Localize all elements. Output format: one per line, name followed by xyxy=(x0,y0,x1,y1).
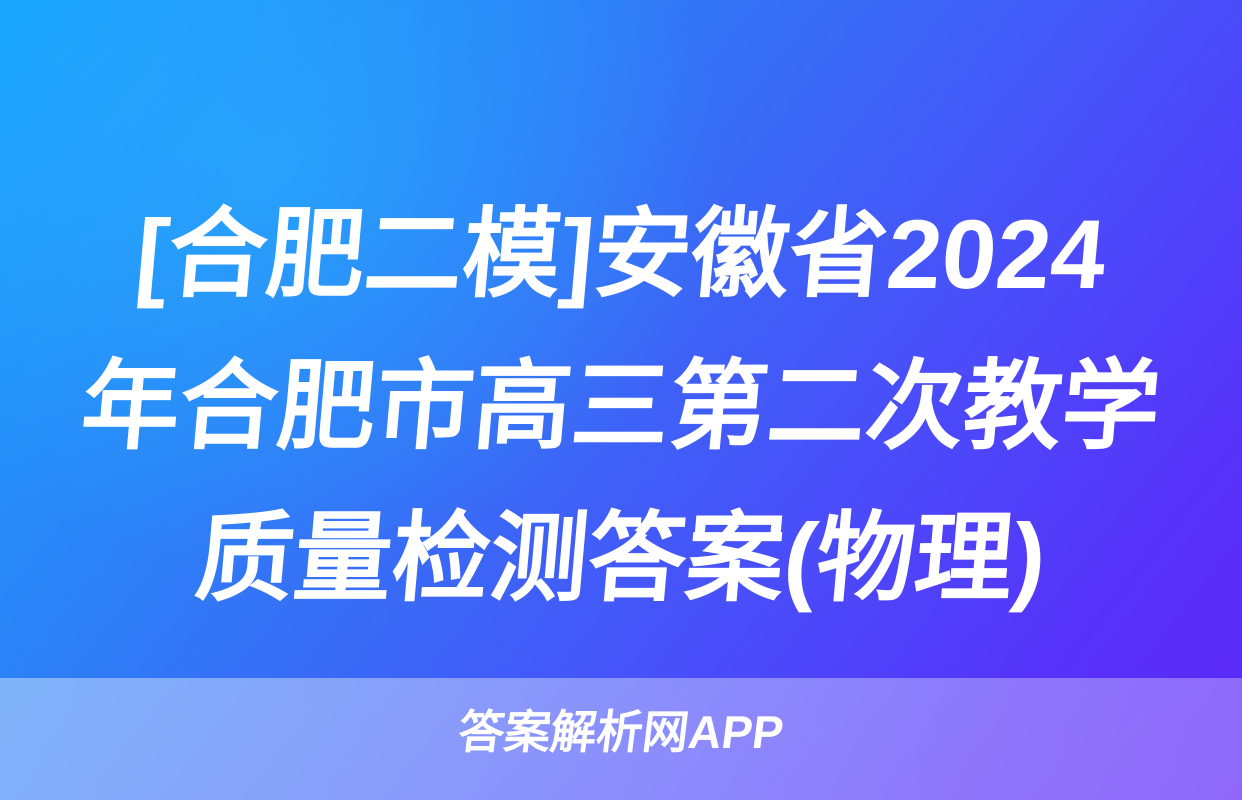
title-line-3: 质量检测答案(物理) xyxy=(41,482,1200,634)
title-line-1: [合肥二模]安徽省2024 xyxy=(41,178,1200,330)
title-line-2: 年合肥市高三第二次教学 xyxy=(41,330,1200,482)
title-card: [合肥二模]安徽省2024 年合肥市高三第二次教学 质量检测答案(物理) 答案解… xyxy=(0,0,1242,800)
page-title: [合肥二模]安徽省2024 年合肥市高三第二次教学 质量检测答案(物理) xyxy=(0,178,1242,634)
watermark-label: 答案解析网APP xyxy=(0,704,1242,760)
